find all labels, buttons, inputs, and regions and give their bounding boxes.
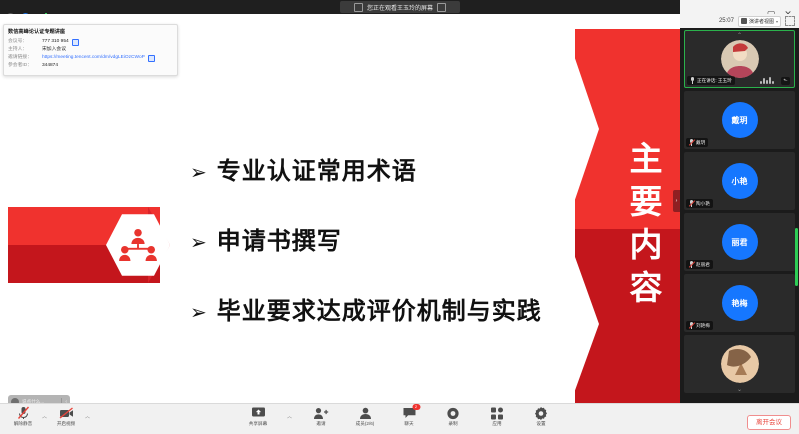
invite-label: 邀请 — [316, 421, 325, 427]
avatar: 艳梅 — [722, 285, 758, 321]
participant-tile[interactable]: 丽君 赵丽君 — [684, 213, 795, 271]
pin-icon[interactable]: ⬑ — [781, 77, 790, 85]
presentation-slide: ➢ 专业认证常用术语 ➢ 申请书撰写 ➢ 毕业要求达成评价机制与实践 — [0, 29, 680, 418]
scroll-down-icon[interactable]: ⌄ — [737, 386, 742, 393]
microphone-muted-icon — [689, 139, 694, 146]
meeting-info-row: 邀请链接： https://meeting.tencent.com/dm/vdg… — [8, 54, 173, 62]
chat-unread-badge: 2 — [412, 404, 420, 410]
host-value: 宋加入会议 — [42, 46, 66, 54]
chevron-notch-top — [565, 29, 599, 229]
meeting-id-label: 会议号： — [8, 38, 42, 46]
bullet-text: 申请书撰写 — [217, 227, 342, 257]
mic-toggle-label: 解除静音 — [14, 421, 32, 427]
bullet-text: 专业认证常用术语 — [217, 157, 417, 187]
participant-name: 陶小艳 — [696, 201, 710, 207]
record-button[interactable]: 录制 — [438, 406, 468, 427]
mic-toggle-button[interactable]: 解除静音 — [8, 406, 38, 427]
share-screen-button[interactable]: 共享屏幕 — [243, 406, 273, 427]
avatar: 丽君 — [722, 224, 758, 260]
microphone-muted-icon — [689, 261, 694, 268]
collapse-rail-handle[interactable]: › — [673, 190, 680, 212]
slide-bullet-list: ➢ 专业认证常用术语 ➢ 申请书撰写 ➢ 毕业要求达成评价机制与实践 — [190, 157, 590, 367]
slide-red-banner — [8, 207, 178, 283]
meeting-info-row: 主持人： 宋加入会议 — [8, 46, 173, 54]
invite-icon — [314, 406, 329, 420]
chat-label: 聊天 — [404, 421, 413, 427]
bullet-item: ➢ 毕业要求达成评价机制与实践 — [190, 297, 590, 327]
bullet-item: ➢ 专业认证常用术语 — [190, 157, 590, 187]
chat-button[interactable]: 2 聊天 — [394, 406, 424, 427]
members-icon — [358, 406, 372, 420]
participant-rail: — ▢ ✕ 25:07 演讲者视图 ▾ ⌃ — [680, 0, 799, 404]
participant-name: 刘艳梅 — [696, 323, 710, 329]
shared-screen-stop-icon[interactable] — [437, 3, 446, 12]
layout-icon — [741, 18, 747, 24]
camera-options-caret-icon[interactable]: ︿ — [85, 413, 90, 420]
meeting-title: 数信高峰论认证专题讲座 — [8, 28, 173, 35]
participant-id-label: 参会者ID： — [8, 62, 42, 70]
participant-id-value: 344874 — [42, 62, 58, 70]
camera-toggle-label: 开启视频 — [57, 421, 75, 427]
shared-screen-title: 您正在观看王玉玲的屏幕 — [367, 3, 433, 12]
bullet-marker-icon: ➢ — [190, 157, 207, 187]
camera-toggle-button[interactable]: 开启视频 — [51, 406, 81, 427]
view-mode-label: 演讲者视图 — [749, 18, 774, 25]
microphone-muted-icon — [689, 200, 694, 207]
invite-button[interactable]: 邀请 — [306, 406, 336, 427]
meeting-info-card: 数信高峰论认证专题讲座 会议号： 777 310 954 主持人： 宋加入会议 … — [3, 24, 178, 76]
record-label: 录制 — [448, 421, 457, 427]
camera-off-icon — [59, 406, 74, 420]
chevron-notch-bottom — [565, 229, 599, 418]
copy-icon[interactable] — [72, 39, 79, 46]
participant-name: 正在讲话: 王玉玲 — [697, 78, 732, 84]
screen-share-mini-icon — [354, 3, 363, 12]
mic-options-caret-icon[interactable]: ︿ — [42, 413, 47, 420]
participant-name-badge: 戴玥 — [686, 138, 708, 147]
bullet-item: ➢ 申请书撰写 — [190, 227, 590, 257]
invite-link-value[interactable]: https://meeting.tencent.com/dm/vdgLEiOzC… — [42, 54, 145, 62]
microphone-muted-icon — [17, 406, 30, 420]
view-mode-selector[interactable]: 演讲者视图 ▾ — [738, 16, 781, 27]
members-label: 成员(2/6) — [356, 421, 375, 427]
bullet-marker-icon: ➢ — [190, 297, 207, 327]
participant-tile[interactable]: 小艳 陶小艳 — [684, 152, 795, 210]
meeting-timer: 25:07 — [719, 18, 734, 24]
members-button[interactable]: 成员(2/6) — [350, 406, 380, 427]
participant-name-badge: 正在讲话: 王玉玲 — [687, 76, 735, 85]
meeting-info-row: 参会者ID： 344874 — [8, 62, 173, 70]
participant-tile[interactable]: ⌄ — [684, 335, 795, 393]
apps-label: 应用 — [492, 421, 501, 427]
gear-icon — [535, 406, 548, 420]
microphone-icon — [690, 77, 695, 84]
share-screen-icon — [251, 406, 265, 420]
apps-icon — [491, 406, 504, 420]
meeting-id-value: 777 310 954 — [42, 38, 69, 46]
share-options-caret-icon[interactable]: ︿ — [287, 413, 292, 420]
participant-name-badge: 刘艳梅 — [686, 321, 713, 330]
participant-tile[interactable]: 艳梅 刘艳梅 — [684, 274, 795, 332]
bullet-text: 毕业要求达成评价机制与实践 — [217, 297, 542, 327]
slide-chevron-panel: 主要内容 — [565, 29, 680, 418]
meeting-toolbar: 解除静音 ︿ 开启视频 ︿ — [0, 403, 799, 434]
meeting-info-row: 会议号： 777 310 954 — [8, 38, 173, 46]
avatar: 戴玥 — [722, 102, 758, 138]
settings-label: 设置 — [536, 421, 545, 427]
participant-tile-list[interactable]: ⌃ 正在讲话: 王玉玲 ⬑ — [680, 28, 799, 404]
tencent-meeting-window: 您正在观看王玉玲的屏幕 — [0, 0, 799, 434]
scroll-up-icon[interactable]: ⌃ — [737, 32, 742, 39]
toolbar-left-group: 解除静音 ︿ 开启视频 ︿ — [8, 406, 90, 427]
toolbar-right-group: 离开会议 — [747, 411, 791, 429]
participant-name: 戴玥 — [696, 140, 705, 146]
invite-link-label: 邀请链接： — [8, 54, 42, 62]
host-label: 主持人： — [8, 46, 42, 54]
participant-name-badge: 赵丽君 — [686, 260, 713, 269]
shared-screen-banner: 您正在观看王玉玲的屏幕 — [340, 1, 460, 13]
participant-tile[interactable]: 戴玥 戴玥 — [684, 91, 795, 149]
slide-vertical-heading: 主要内容 — [615, 141, 663, 313]
settings-button[interactable]: 设置 — [526, 406, 556, 427]
copy-icon[interactable] — [148, 55, 155, 62]
speaking-waveform-icon — [760, 77, 774, 84]
avatar: 小艳 — [722, 163, 758, 199]
participant-name: 赵丽君 — [696, 262, 710, 268]
leave-meeting-button[interactable]: 离开会议 — [747, 415, 791, 430]
share-screen-label: 共享屏幕 — [249, 421, 267, 427]
avatar — [721, 345, 759, 383]
bullet-marker-icon: ➢ — [190, 227, 207, 257]
participant-name-badge: 陶小艳 — [686, 199, 713, 208]
microphone-muted-icon — [689, 322, 694, 329]
toolbar-center-group: 共享屏幕 ︿ 邀请 — [243, 406, 556, 427]
fullscreen-icon[interactable] — [785, 16, 795, 26]
chevron-down-icon: ▾ — [776, 19, 778, 24]
record-icon — [447, 406, 460, 420]
rail-scrollbar[interactable] — [795, 228, 798, 286]
participant-tile-speaker[interactable]: ⌃ 正在讲话: 王玉玲 ⬑ — [684, 30, 795, 88]
meeting-toolbar-secondary: 25:07 演讲者视图 ▾ — [680, 14, 799, 28]
avatar — [721, 40, 759, 78]
apps-button[interactable]: 应用 — [482, 406, 512, 427]
